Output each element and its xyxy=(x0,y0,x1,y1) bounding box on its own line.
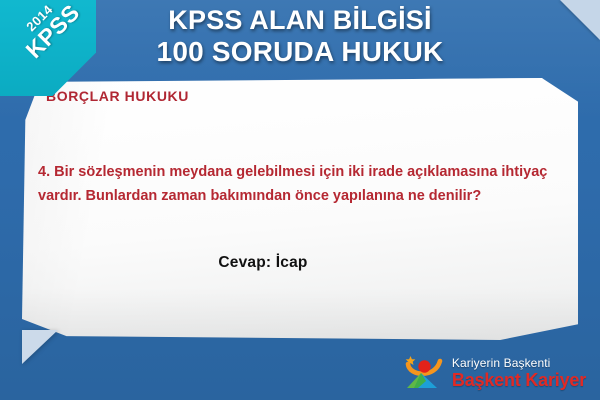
answer-text: Cevap: İcap xyxy=(0,254,600,272)
content-card xyxy=(22,78,578,340)
logo-tagline: Kariyerin Başkenti xyxy=(452,357,586,369)
slide-canvas: KPSS ALAN BİLGİSİ 100 SORUDA HUKUK BORÇL… xyxy=(0,0,600,400)
card-fold-bottom-left xyxy=(22,330,58,364)
logo-text-block: Kariyerin Başkenti Başkent Kariyer xyxy=(452,357,586,389)
ribbon-background xyxy=(0,0,96,96)
question-text: 4. Bir sözleşmenin meydana gelebilmesi i… xyxy=(38,160,558,208)
baskent-kariyer-figure-icon xyxy=(404,355,446,391)
corner-ribbon: 2014 KPSS xyxy=(0,0,96,96)
brand-logo[interactable]: Kariyerin Başkenti Başkent Kariyer xyxy=(404,354,586,392)
card-sheen xyxy=(22,78,578,340)
logo-brand: Başkent Kariyer xyxy=(452,371,586,389)
